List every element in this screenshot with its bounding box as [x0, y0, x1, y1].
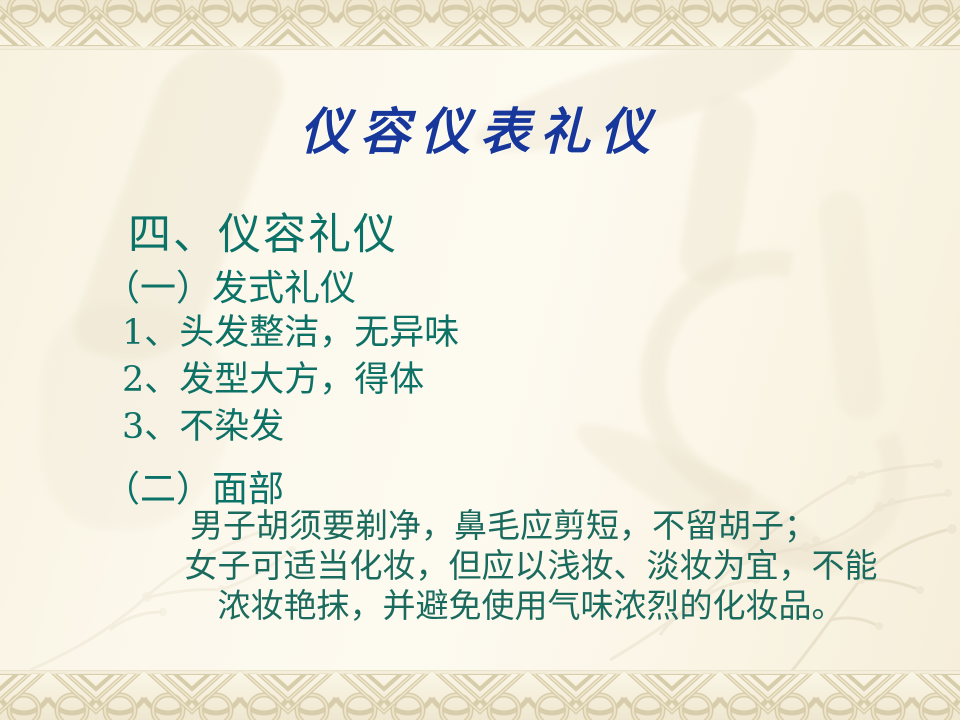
hair-etiquette-list: 1、头发整洁，无异味 2、发型大方，得体 3、不染发	[122, 310, 459, 451]
subsection-heading-one: （一）发式礼仪	[104, 259, 356, 311]
paragraph-line: 女子可适当化妆，但应以浅妆、淡妆为宜，不能	[118, 546, 944, 586]
face-etiquette-paragraph: 男子胡须要剃净，鼻毛应剪短，不留胡子； 女子可适当化妆，但应以浅妆、淡妆为宜，不…	[118, 506, 944, 626]
slide-title: 仪容仪表礼仪	[0, 92, 960, 164]
slide-canvas: 仪容仪表礼仪 四、仪容礼仪 （一）发式礼仪 1、头发整洁，无异味 2、发型大方，…	[0, 0, 960, 720]
list-item: 2、发型大方，得体	[122, 357, 459, 404]
list-item: 3、不染发	[122, 404, 459, 451]
section-heading: 四、仪容礼仪	[128, 200, 398, 262]
paragraph-line: 浓妆艳抹，并避免使用气味浓烈的化妆品。	[118, 586, 944, 626]
paragraph-line: 男子胡须要剃净，鼻毛应剪短，不留胡子；	[118, 506, 944, 546]
list-item: 1、头发整洁，无异味	[122, 310, 459, 357]
subsection-heading-two: （二）面部	[104, 460, 284, 512]
top-decorative-border	[0, 0, 960, 50]
bottom-decorative-border	[0, 670, 960, 720]
